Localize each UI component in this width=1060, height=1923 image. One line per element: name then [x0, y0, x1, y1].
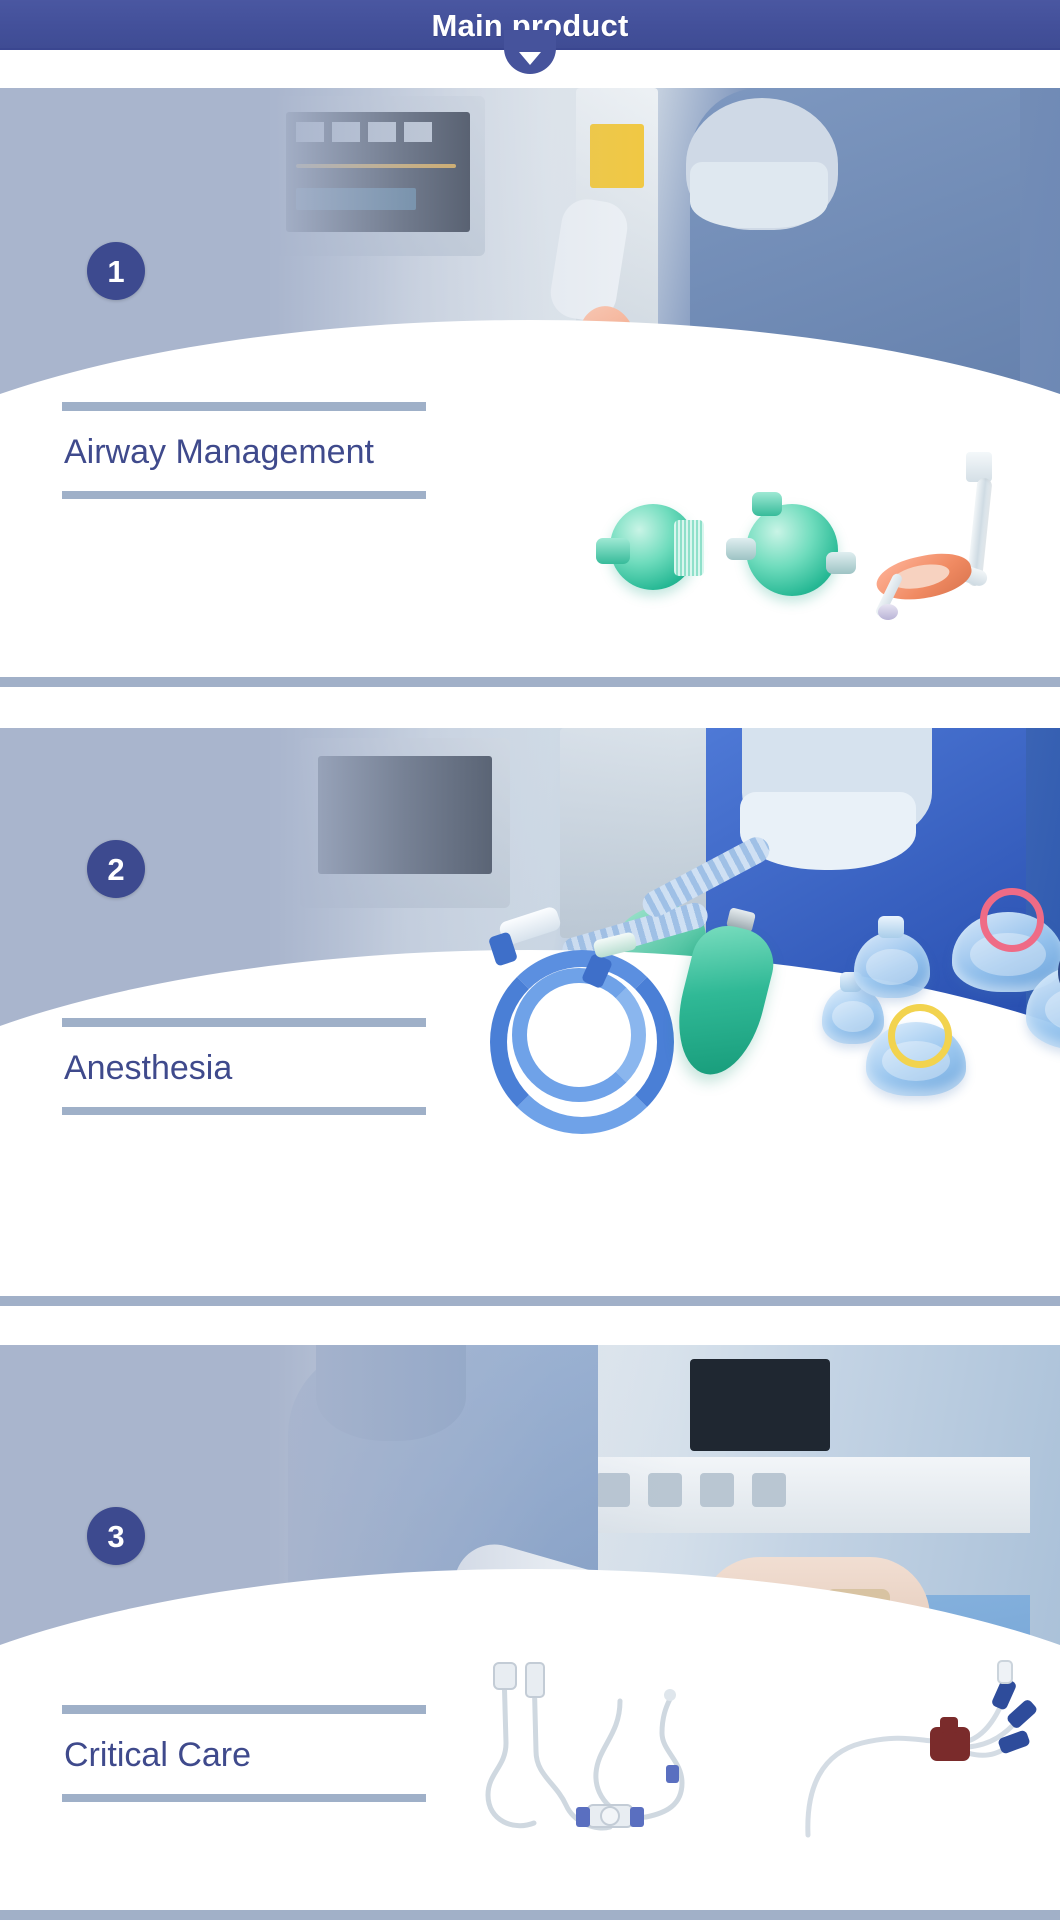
card-products-anesthesia	[470, 888, 1060, 1108]
card-number: 2	[107, 854, 124, 885]
title-rule-bottom	[62, 1107, 426, 1115]
card-separator-1	[0, 677, 1060, 687]
product-anesthesia-face-mask-size-3	[866, 998, 976, 1098]
product-disposable-blood-pressure-transducer	[470, 1655, 740, 1855]
product-breathing-filter-2	[728, 496, 858, 600]
product-breathing-filter-1	[600, 500, 730, 600]
card-number-badge: 3	[87, 1507, 145, 1565]
card-number-badge: 1	[87, 242, 145, 300]
banner-chevron-tab[interactable]	[504, 30, 556, 74]
product-anesthesia-breathing-circuit	[482, 912, 672, 1102]
product-reservoir-bag	[666, 910, 806, 1110]
product-laryngeal-mask-airway	[876, 452, 1026, 622]
card-title: Critical Care	[62, 1714, 426, 1794]
chevron-down-icon	[519, 52, 541, 65]
card-products-airway	[600, 460, 1020, 620]
card-number: 3	[107, 1521, 124, 1552]
product-card-anesthesia[interactable]: 2 Anesthesia	[0, 728, 1060, 1296]
product-card-airway-management[interactable]: 1 Airway Management	[0, 88, 1060, 677]
title-rule-top	[62, 402, 426, 411]
card-title: Airway Management	[62, 411, 426, 491]
product-anesthesia-face-mask-size-2	[854, 916, 938, 1002]
card-separator-2	[0, 1296, 1060, 1306]
product-central-venous-catheter	[800, 1657, 1050, 1847]
main-product-page: Main product	[0, 0, 1060, 1923]
card-label-block: Critical Care	[62, 1705, 426, 1802]
title-rule-bottom	[62, 1794, 426, 1802]
card-number-badge: 2	[87, 840, 145, 898]
card-label-block: Anesthesia	[62, 1018, 426, 1115]
product-anesthesia-face-mask-size-5	[1026, 938, 1060, 1054]
card-separator-3	[0, 1910, 1060, 1920]
product-card-critical-care[interactable]: 3 Critical Care	[0, 1345, 1060, 1910]
card-number: 1	[107, 256, 124, 287]
card-products-critical-care	[470, 1655, 1060, 1855]
title-rule-top	[62, 1018, 426, 1027]
title-rule-bottom	[62, 491, 426, 499]
card-label-block: Airway Management	[62, 402, 426, 499]
card-title: Anesthesia	[62, 1027, 426, 1107]
title-rule-top	[62, 1705, 426, 1714]
